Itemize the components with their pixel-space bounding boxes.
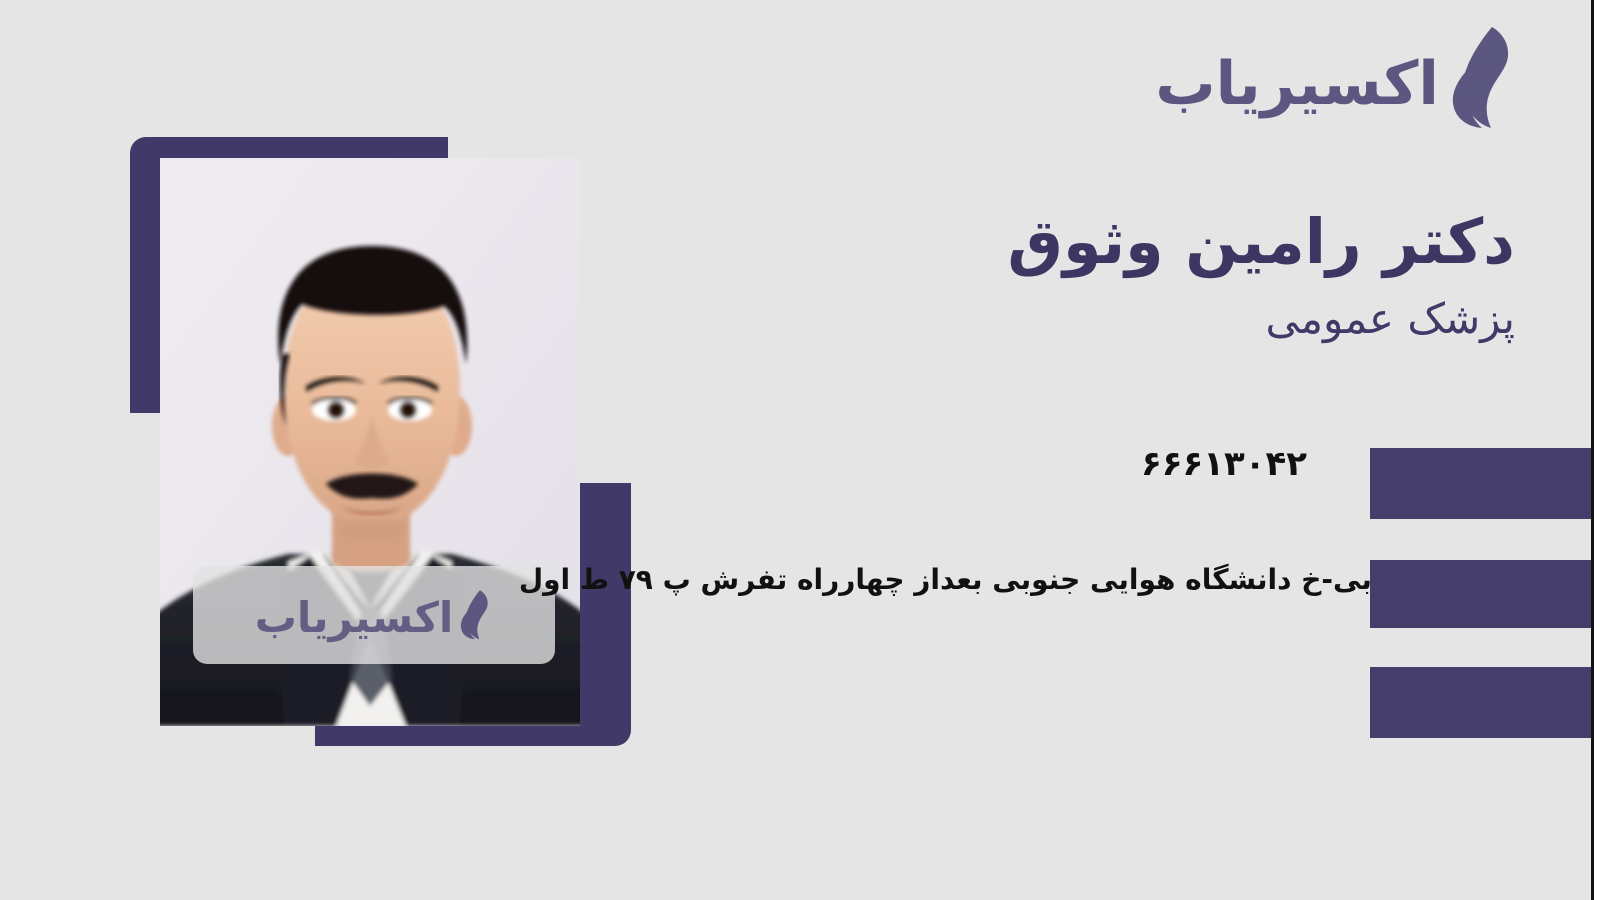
doctor-specialty: پزشک عمومی: [695, 294, 1515, 344]
business-card: اکسیریاب: [0, 0, 1594, 900]
brand-logo[interactable]: اکسیریاب: [1155, 26, 1519, 130]
edge-bar-1: [1370, 448, 1594, 519]
edge-bar-2: [1370, 560, 1594, 628]
flame-drop-icon: [1445, 26, 1519, 130]
brand-wordmark: اکسیریاب: [1155, 54, 1439, 114]
doctor-info-block: دکتر رامین وثوق پزشک عمومی: [695, 206, 1515, 344]
phone-number[interactable]: ۶۶۶۱۳۰۴۲: [1141, 444, 1307, 484]
watermark-wordmark: اکسیریاب: [255, 597, 454, 639]
doctor-name: دکتر رامین وثوق: [695, 206, 1515, 278]
edge-bar-3: [1370, 667, 1594, 738]
watermark-flame-icon: [457, 587, 493, 643]
photo-watermark: اکسیریاب: [193, 566, 555, 664]
